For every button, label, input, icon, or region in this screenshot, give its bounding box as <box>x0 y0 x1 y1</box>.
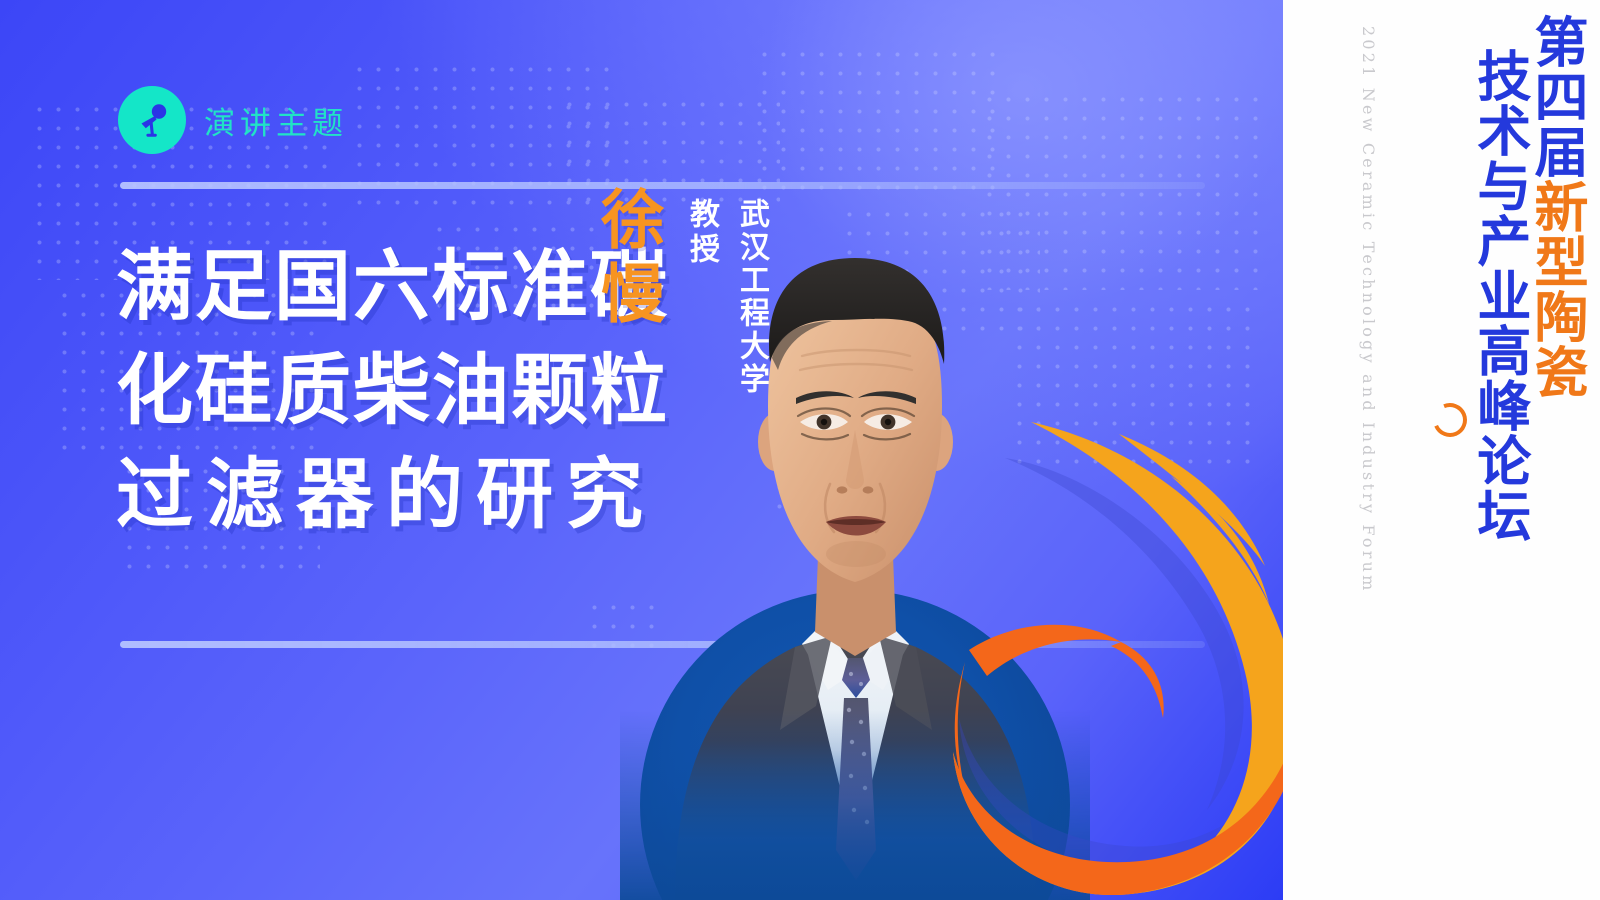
event-title-line-1: 第四届新型陶瓷 <box>1529 14 1584 543</box>
event-title-line-2: 技术与产业高峰论坛 <box>1472 48 1527 543</box>
microphone-icon <box>118 86 186 154</box>
event-english-subtitle: 2021 New Ceramic Technology and Industry… <box>1359 26 1378 593</box>
topic-badge: 演讲主题 <box>118 86 348 154</box>
blue-background-panel: 演讲主题 满足国六标准碳 化硅质柴油颗粒 过滤器的研究 徐慢 教授 武汉工程大学 <box>0 0 1283 900</box>
event-title-prefix: 第四届 <box>1525 14 1589 179</box>
event-swoosh-logo <box>935 400 1283 900</box>
white-side-panel: 技术与产业高峰论坛 第四届新型陶瓷 2021 New Ceramic Techn… <box>1283 0 1600 900</box>
event-title-highlight: 新型陶瓷 <box>1525 179 1589 399</box>
conference-speaker-poster: 演讲主题 满足国六标准碳 化硅质柴油颗粒 过滤器的研究 徐慢 教授 武汉工程大学 <box>0 0 1600 900</box>
topic-badge-label: 演讲主题 <box>204 98 348 143</box>
event-title-vertical: 技术与产业高峰论坛 第四届新型陶瓷 <box>1472 14 1584 543</box>
decorative-ring <box>1428 398 1472 442</box>
